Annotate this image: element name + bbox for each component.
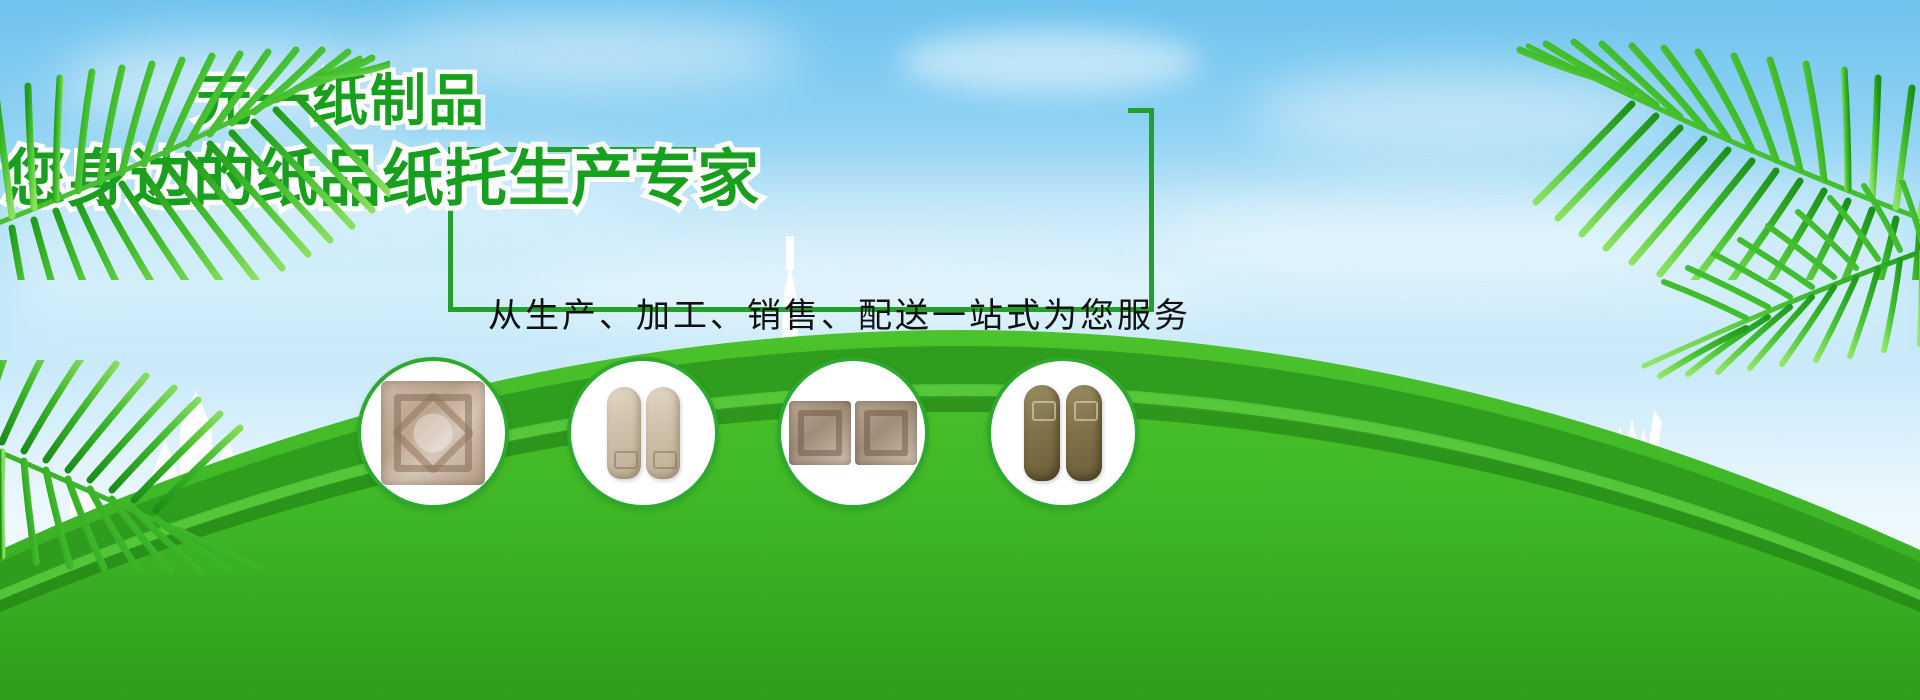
pulp-tray-icon bbox=[381, 381, 485, 485]
double-tray-icon bbox=[789, 401, 917, 465]
product-image-4 bbox=[991, 361, 1135, 505]
grass-hedge bbox=[0, 300, 1920, 700]
product-image-3 bbox=[781, 361, 925, 505]
insole-pair-icon bbox=[607, 387, 680, 479]
frame-right-rule bbox=[1149, 108, 1154, 312]
insole-pair-dark-icon bbox=[1024, 385, 1102, 481]
product-circle-2[interactable] bbox=[567, 357, 719, 509]
promo-banner: 元一纸制品 您身边的纸品纸托生产专家 从生产、加工、销售、配送一站式为您服务 bbox=[0, 0, 1920, 700]
page-title: 您身边的纸品纸托生产专家 bbox=[4, 148, 760, 210]
product-image-1 bbox=[361, 361, 505, 505]
product-circle-1[interactable] bbox=[357, 357, 509, 509]
frame-topright-rule bbox=[1128, 108, 1154, 113]
cloud-icon bbox=[1250, 70, 1670, 160]
brand-title: 元一纸制品 bbox=[196, 74, 486, 130]
cloud-icon bbox=[900, 30, 1200, 94]
product-circle-4[interactable] bbox=[987, 357, 1139, 509]
subtitle-text: 从生产、加工、销售、配送一站式为您服务 bbox=[488, 288, 1191, 337]
product-image-2 bbox=[571, 361, 715, 505]
product-circle-3[interactable] bbox=[777, 357, 929, 509]
